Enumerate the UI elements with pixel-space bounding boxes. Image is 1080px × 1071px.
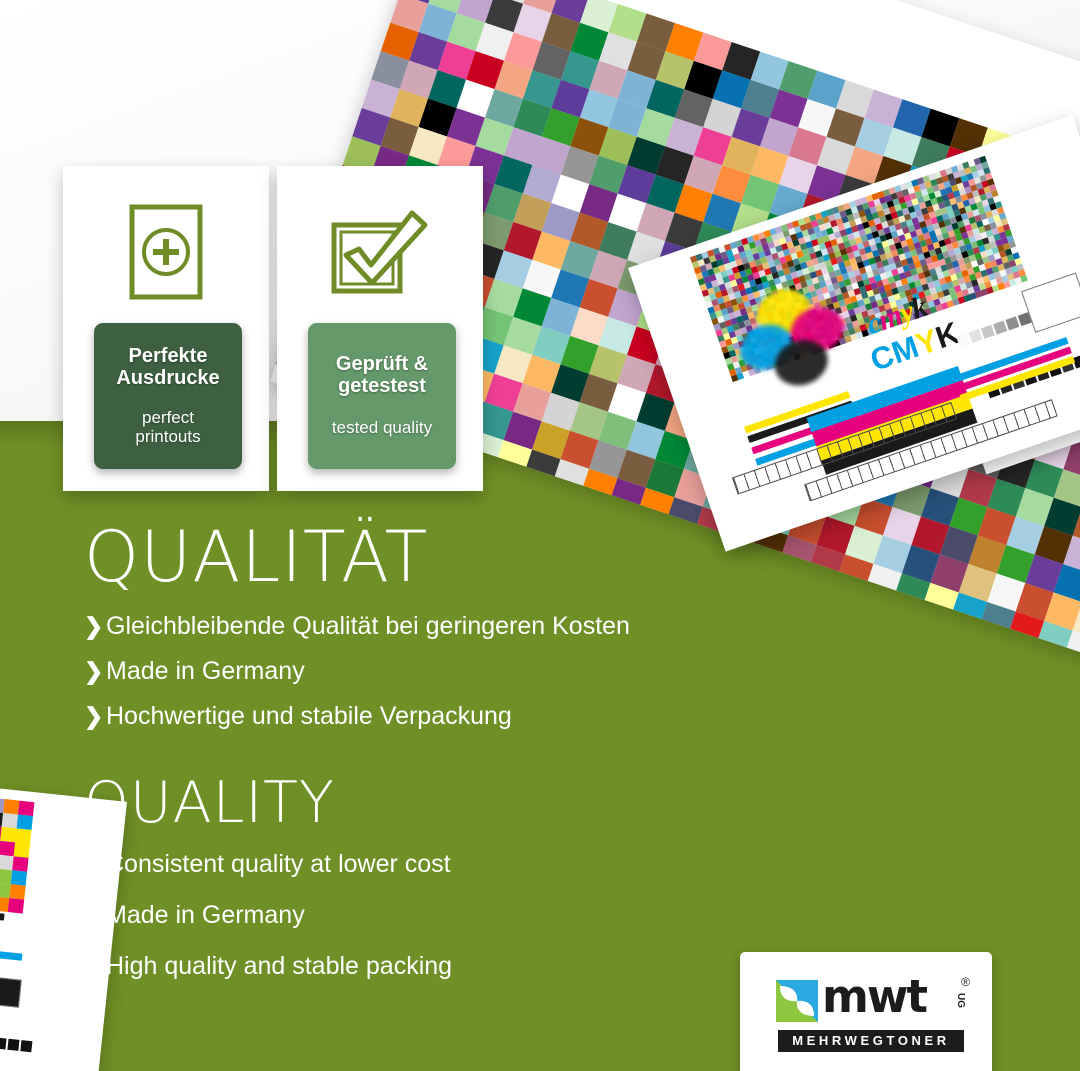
- list-item: ❯Hochwertige und stabile Verpackung: [84, 704, 630, 729]
- color-swatch: [18, 801, 34, 816]
- list-item: ❯Made in Germany: [84, 659, 630, 684]
- logo-legal-form: UG: [955, 993, 966, 1008]
- badge-title-line2: getestest: [338, 375, 426, 397]
- chevron-right-icon: ❯: [84, 904, 106, 927]
- list-item: ❯Consistent quality at lower cost: [84, 852, 452, 877]
- feature-badge-dark: Perfekte Ausdrucke perfect printouts: [94, 323, 242, 469]
- color-swatch: [11, 870, 27, 885]
- chevron-right-icon: ❯: [84, 705, 106, 728]
- document-plus-icon: [128, 196, 204, 308]
- swatch-reference-box: [1021, 272, 1080, 332]
- color-swatch: [2, 813, 18, 828]
- checkbox-pencil-icon: [328, 196, 432, 308]
- badge-subtitle-line1: perfect: [142, 408, 194, 427]
- list-item-label: Made in Germany: [106, 659, 305, 684]
- feature-card-list: Perfekte Ausdrucke perfect printouts: [63, 166, 483, 491]
- chevron-right-icon: ❯: [84, 660, 106, 683]
- badge-title-line1: Geprüft &: [336, 353, 428, 375]
- color-swatch: [17, 815, 33, 830]
- list-item: ❯High quality and stable packing: [84, 954, 452, 979]
- brand-logo: mwt UG ® MEHRWEGTONER: [776, 978, 966, 1052]
- list-item-label: Gleichbleibende Qualität bei geringeren …: [106, 614, 630, 639]
- chevron-right-icon: ❯: [84, 615, 106, 638]
- mwt-logo-mark-icon: [776, 980, 818, 1022]
- list-item-label: Made in Germany: [106, 903, 305, 928]
- feature-card-perfect-printouts[interactable]: Perfekte Ausdrucke perfect printouts: [63, 166, 269, 491]
- color-swatch: [14, 842, 30, 857]
- left-page-swatch-grid: [0, 793, 34, 914]
- feature-badge-light: Geprüft & getestest tested quality: [308, 323, 456, 469]
- list-item: ❯Gleichbleibende Qualität bei geringeren…: [84, 614, 630, 639]
- section-german: QUALITÄT ❯Gleichbleibende Qualität bei g…: [84, 522, 630, 749]
- brand-logo-box[interactable]: mwt UG ® MEHRWEGTONER: [740, 952, 992, 1071]
- list-item-label: Consistent quality at lower cost: [106, 852, 451, 877]
- color-swatch: [12, 856, 28, 871]
- badge-subtitle: perfect printouts: [135, 409, 200, 446]
- list-item-label: High quality and stable packing: [106, 954, 452, 979]
- page-title-german: QUALITÄT: [84, 522, 630, 592]
- badge-title-line1: Perfekte: [129, 345, 208, 367]
- color-swatch: [8, 898, 24, 913]
- badge-subtitle-line2: printouts: [135, 427, 200, 446]
- logo-tagline: MEHRWEGTONER: [778, 1030, 964, 1052]
- page-title-english: QUALITY: [84, 775, 452, 832]
- left-page-step-wedge: [0, 1037, 32, 1052]
- logo-top-row: mwt UG ®: [776, 978, 966, 1024]
- registered-trademark-icon: ®: [961, 975, 970, 989]
- color-swatch: [0, 827, 16, 842]
- color-swatch: [3, 799, 19, 814]
- chevron-right-icon: ❯: [84, 853, 106, 876]
- logo-wordmark: mwt: [822, 974, 926, 1019]
- badge-title-line2: Ausdrucke: [116, 367, 219, 389]
- list-item-label: Hochwertige und stabile Verpackung: [106, 704, 512, 729]
- left-page-bar-cyan: [0, 944, 23, 961]
- badge-subtitle: tested quality: [332, 419, 432, 437]
- promo-banner: cmyk CMYK: [0, 0, 1080, 1071]
- feature-card-tested-quality[interactable]: Geprüft & getestest tested quality: [277, 166, 483, 491]
- color-swatch: [1020, 275, 1028, 283]
- color-swatch: [15, 828, 31, 843]
- badge-title: Geprüft & getestest: [336, 354, 428, 397]
- chevron-right-icon: ❯: [84, 955, 106, 978]
- color-swatch: [9, 884, 25, 899]
- list-item: ❯Made in Germany: [84, 903, 452, 928]
- left-page-reg-mark: [0, 977, 22, 1008]
- benefit-list-german: ❯Gleichbleibende Qualität bei geringeren…: [84, 614, 630, 729]
- badge-subtitle-line1: tested quality: [332, 418, 432, 437]
- benefit-list-english: ❯Consistent quality at lower cost❯Made i…: [84, 852, 452, 979]
- badge-title: Perfekte Ausdrucke: [116, 346, 219, 389]
- section-english: QUALITY ❯Consistent quality at lower cos…: [84, 775, 452, 1005]
